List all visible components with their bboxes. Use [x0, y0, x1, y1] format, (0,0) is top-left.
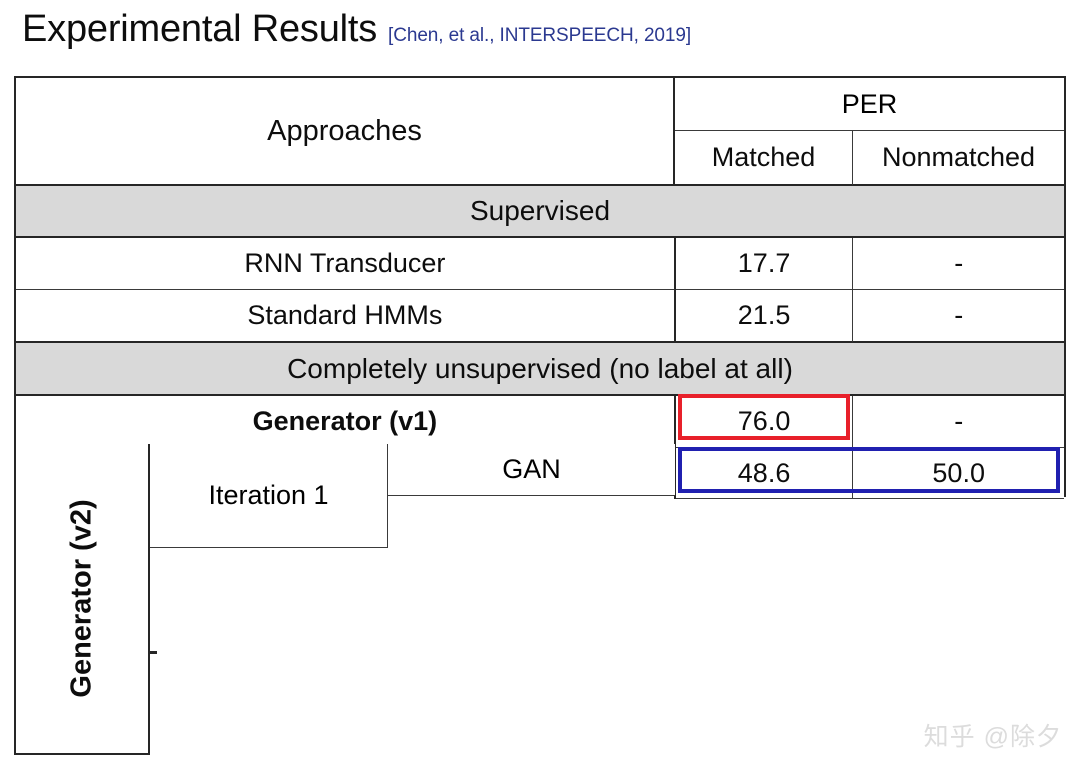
cell-iteration-1: Iteration 1 — [150, 444, 388, 548]
cell-generator-v1-nonmatched: - — [853, 396, 1064, 448]
row-label-rnn-transducer: RNN Transducer — [16, 238, 676, 290]
cell-generator-v2: Generator (v2) — [14, 444, 150, 755]
table-row: Standard HMMs 21.5 - — [16, 290, 1064, 343]
section-band-label: Supervised — [16, 186, 1064, 238]
column-header-approaches: Approaches — [16, 78, 675, 186]
structure-tick-mark — [148, 651, 157, 654]
table-row: Generator (v1) 76.0 - — [16, 396, 1064, 448]
citation-reference: [Chen, et al., INTERSPEECH, 2019] — [388, 25, 691, 47]
cell-generator-v1-matched: 76.0 — [676, 396, 854, 448]
page-title: Experimental Results — [22, 8, 377, 51]
cell-method-gan: GAN — [388, 444, 675, 496]
column-header-per: PER — [675, 78, 1064, 131]
column-header-matched: Matched — [675, 131, 853, 186]
column-header-per-group: PER Matched Nonmatched — [675, 78, 1064, 186]
results-table: Approaches PER Matched Nonmatched Superv… — [14, 76, 1066, 497]
generator-v2-vertical-label: Generator (v2) — [66, 499, 99, 697]
column-header-nonmatched: Nonmatched — [853, 131, 1064, 186]
table-row: RNN Transducer 17.7 - — [16, 238, 1064, 290]
cell-rnn-transducer-nonmatched: - — [853, 238, 1064, 290]
cell-rnn-transducer-matched: 17.7 — [676, 238, 854, 290]
cell-gan-nonmatched: 50.0 — [853, 448, 1064, 499]
cell-gan-matched: 48.6 — [676, 448, 854, 499]
per-subcolumns: Matched Nonmatched — [675, 131, 1064, 186]
watermark: 知乎 @除夕 — [924, 717, 1062, 753]
row-label-standard-hmms: Standard HMMs — [16, 290, 676, 343]
row-label-generator-v1: Generator (v1) — [16, 396, 676, 448]
cell-standard-hmms-nonmatched: - — [853, 290, 1064, 343]
section-band-label: Completely unsupervised (no label at all… — [16, 343, 1064, 396]
section-band-unsupervised: Completely unsupervised (no label at all… — [16, 343, 1064, 396]
slide-title-bar: Experimental Results [Chen, et al., INTE… — [22, 8, 691, 51]
section-band-supervised: Supervised — [16, 186, 1064, 238]
table-header-row: Approaches PER Matched Nonmatched — [16, 78, 1064, 186]
cell-standard-hmms-matched: 21.5 — [676, 290, 854, 343]
